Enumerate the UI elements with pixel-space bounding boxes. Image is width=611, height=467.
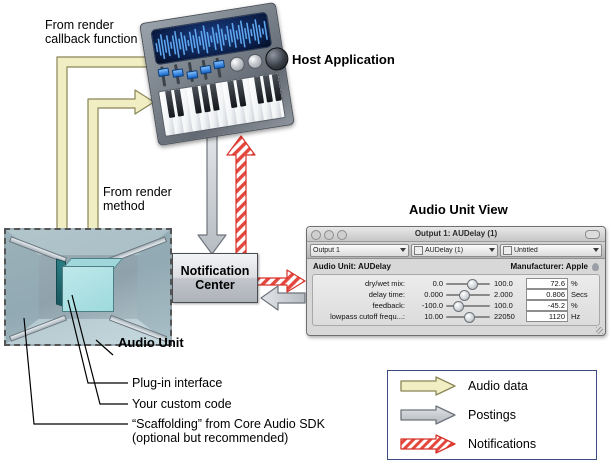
chevron-down-icon: [593, 248, 599, 252]
legend-label: Audio data: [468, 379, 528, 393]
slider-3: [188, 62, 194, 82]
callout-custom-code: Your custom code: [132, 397, 232, 411]
arrow-postings-view-to-nc: [261, 286, 305, 310]
label-audio-unit-view: Audio Unit View: [409, 203, 508, 217]
window-titlebar[interactable]: Output 1: AUDelay (1): [307, 227, 605, 242]
label-audio-unit: Audio Unit: [118, 336, 184, 350]
param-value-field[interactable]: 72.6: [526, 278, 568, 289]
legend-label: Notifications: [468, 437, 536, 451]
param-max: 100.0: [490, 279, 526, 288]
notification-center-label: Notification Center: [181, 264, 250, 292]
notifications-arrow-icon: [400, 434, 456, 454]
param-unit: %: [568, 301, 595, 310]
arrow-postings-host-to-nc: [198, 133, 226, 254]
param-unit: Hz: [568, 312, 595, 321]
slider-1: [160, 66, 166, 86]
knob-large: [264, 46, 290, 72]
preset-popup-label: Untitled: [514, 247, 591, 254]
audio-unit-icon: [414, 246, 423, 255]
param-slider[interactable]: [446, 279, 490, 288]
unit-info-row: Audio Unit: AUDelay Manufacturer: Apple: [307, 259, 605, 273]
callout-scaffolding: “Scaffolding” from Core Audio SDK (optio…: [132, 417, 325, 445]
au-custom-code-cube: [56, 258, 112, 310]
param-unit: Secs: [568, 290, 595, 299]
audio-unit-view-window[interactable]: Output 1: AUDelay (1) Output 1 AUDelay (…: [306, 226, 606, 336]
param-slider[interactable]: [446, 301, 490, 310]
legend-item-notifications: Notifications: [388, 430, 596, 459]
param-max: 2.000: [490, 290, 526, 299]
param-slider[interactable]: [446, 290, 490, 299]
minimize-button[interactable]: [324, 230, 334, 240]
output-popup[interactable]: Output 1: [310, 244, 409, 257]
param-value-field[interactable]: 1120: [526, 311, 568, 322]
diagram-canvas: Notification Center Output 1: AUDelay (1…: [0, 0, 611, 467]
label-from-render-callback: From render callback function: [45, 18, 137, 46]
legend-item-audio-data: Audio data: [388, 371, 596, 400]
label-host-application: Host Application: [292, 53, 395, 67]
slider-thumb[interactable]: [464, 312, 475, 323]
param-min: 10.00: [409, 312, 446, 321]
traffic-lights[interactable]: [311, 230, 347, 240]
arrow-notifications-nc-to-view: [256, 270, 305, 292]
manufacturer-label: Manufacturer: Apple: [511, 262, 589, 271]
param-row-0[interactable]: dry/wet mix: 0.0 100.0 72.6 %: [317, 278, 595, 289]
device-body: [139, 2, 295, 146]
preset-popup[interactable]: Untitled: [500, 244, 602, 257]
unit-popup-label: AUDelay (1): [425, 247, 487, 254]
close-button[interactable]: [311, 230, 321, 240]
param-value-field[interactable]: 0.806: [526, 289, 568, 300]
parameter-list: dry/wet mix: 0.0 100.0 72.6 % delay time…: [312, 274, 600, 326]
param-slider[interactable]: [446, 312, 490, 321]
notification-center-box: Notification Center: [172, 253, 258, 303]
param-name: lowpass cutoff frequ...:: [317, 312, 409, 321]
legend-item-postings: Postings: [388, 400, 596, 429]
param-max: 100.0: [490, 301, 526, 310]
audio-data-arrow-icon: [400, 376, 456, 396]
param-unit: %: [568, 279, 595, 288]
legend-box: Audio data Postings Notifications: [387, 370, 597, 460]
audio-unit-cube: [4, 228, 172, 346]
window-toolbar[interactable]: Output 1 AUDelay (1) Untitled: [307, 242, 605, 259]
param-min: -100.0: [409, 301, 446, 310]
label-from-render-method: From render method: [103, 185, 172, 213]
window-title: Output 1: AUDelay (1): [307, 227, 605, 241]
param-min: 0.0: [409, 279, 446, 288]
param-name: dry/wet mix:: [317, 279, 409, 288]
slider-4: [202, 60, 208, 80]
postings-arrow-icon: [400, 405, 456, 425]
param-row-3[interactable]: lowpass cutoff frequ...: 10.00 22050 112…: [317, 311, 595, 322]
param-max: 22050: [490, 312, 526, 321]
preset-icon: [503, 246, 512, 255]
unit-name-label: Audio Unit: AUDelay: [313, 262, 391, 271]
chevron-down-icon: [400, 248, 406, 252]
zoom-button[interactable]: [337, 230, 347, 240]
param-row-2[interactable]: feedback: -100.0 100.0 -45.2 %: [317, 300, 595, 311]
param-name: delay time:: [317, 290, 409, 299]
unit-popup[interactable]: AUDelay (1): [411, 244, 498, 257]
slider-5: [215, 58, 221, 78]
knob-small-1: [229, 56, 246, 73]
apple-logo-icon: [592, 263, 599, 271]
arrow-audio-render-method: [88, 90, 154, 250]
toolbar-toggle-button[interactable]: [585, 230, 600, 239]
param-name: feedback:: [317, 301, 409, 310]
arrow-notifications-nc-to-host: [227, 136, 255, 256]
slider-thumb[interactable]: [467, 279, 478, 290]
chevron-down-icon: [489, 248, 495, 252]
param-value-field[interactable]: -45.2: [526, 300, 568, 311]
param-min: 0.000: [409, 290, 446, 299]
param-row-1[interactable]: delay time: 0.000 2.000 0.806 Secs: [317, 289, 595, 300]
legend-label: Postings: [468, 408, 516, 422]
resize-grip[interactable]: [596, 327, 603, 334]
callout-plugin-interface: Plug-in interface: [132, 376, 222, 390]
knob-small-2: [246, 53, 263, 70]
slider-2: [174, 64, 180, 84]
cube-front-face: [62, 266, 114, 312]
host-application-device: [139, 2, 295, 146]
output-popup-label: Output 1: [313, 247, 398, 254]
